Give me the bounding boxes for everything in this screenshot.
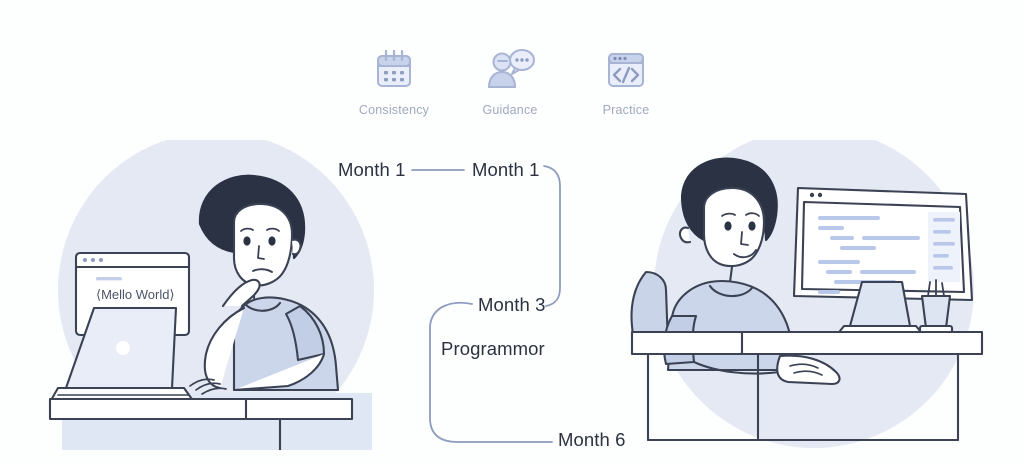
timeline-label-month-3[interactable]: Month 3 [478, 294, 546, 316]
timeline-label-month-1-left[interactable]: Month 1 [338, 159, 406, 181]
boy-eye-right [748, 221, 755, 230]
person-speech-bubble-icon [483, 44, 537, 96]
timeline-label-role[interactable]: Programmor [441, 338, 545, 360]
feature-label-guidance: Guidance [482, 103, 537, 117]
right-illustration-svg [628, 140, 1008, 450]
code-browser-icon [599, 44, 653, 96]
connector-month1-to-month3 [544, 166, 560, 306]
feature-label-practice: Practice [603, 103, 650, 117]
feature-item-guidance[interactable]: Guidance [456, 44, 564, 117]
feature-icon-row: Consistency Guidance [340, 44, 680, 124]
boy-ear [292, 240, 301, 255]
left-illustration: ⟨Mello World⟩ [48, 140, 398, 450]
right-illustration [628, 140, 1008, 450]
feature-item-practice[interactable]: Practice [572, 44, 680, 117]
feature-label-consistency: Consistency [359, 103, 429, 117]
boy-eye-left [243, 236, 250, 245]
feature-item-consistency[interactable]: Consistency [340, 44, 448, 117]
boy-eye-right [268, 236, 275, 245]
left-illustration-svg: ⟨Mello World⟩ [48, 140, 398, 450]
calendar-icon [367, 44, 421, 96]
timeline-label-month-6[interactable]: Month 6 [558, 429, 626, 451]
boy-face [234, 204, 292, 285]
connector-month3-to-month6 [430, 303, 552, 442]
boy-eye-left [724, 221, 731, 230]
illustration-canvas: ⟨Mello World⟩ [0, 0, 1024, 464]
browser-screen-text: ⟨Mello World⟩ [96, 287, 175, 302]
timeline-label-month-1-right[interactable]: Month 1 [472, 159, 540, 181]
